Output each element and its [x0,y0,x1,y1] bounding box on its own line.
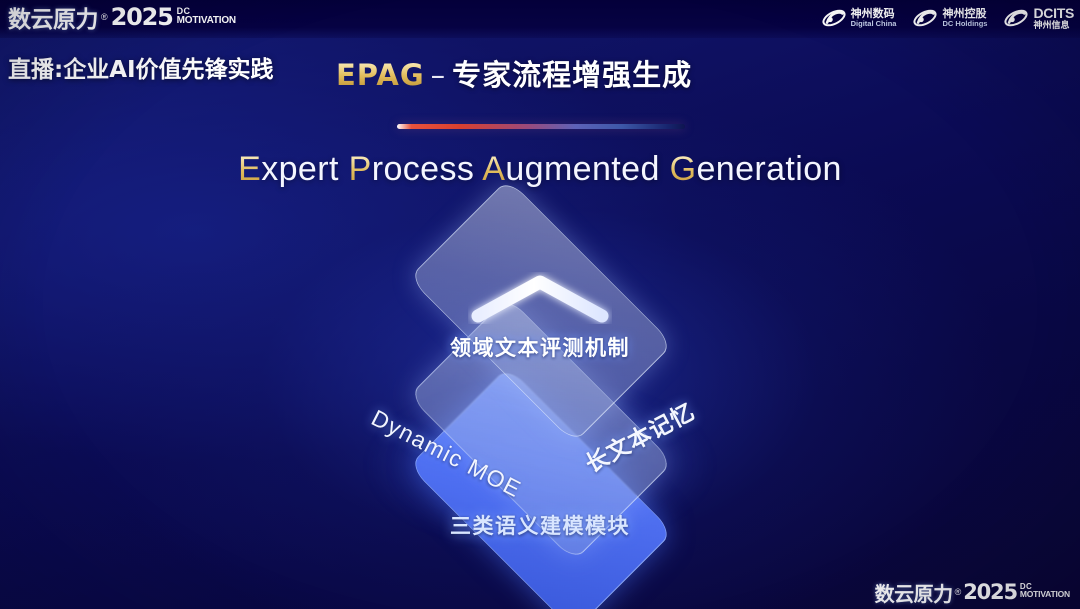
subtitle-word-generation: eneration [696,150,841,188]
swirl-logo-icon [1003,6,1029,30]
partner-logo-dc-holdings: 神州控股 DC Holdings [912,6,987,30]
brand-registered-mark: ® [101,12,108,22]
title-divider [397,124,685,129]
partner-logo-text: 神州控股 DC Holdings [942,9,987,28]
chevron-up-icon [468,272,612,324]
partner-name-en: Digital China [851,20,897,28]
brand-registered-mark: ® [955,587,962,597]
page-title: EPAG–专家流程增强生成 [336,52,692,94]
title-dash: – [425,58,453,92]
live-stream-title: 直播:企业AI价值先锋实践 [8,50,274,84]
brand-dc-motivation: DC MOTIVATION [1020,583,1070,598]
subtitle-word-augmented: ugmented [505,150,669,188]
brand-logo-watermark: 数云原力 ® 2025 DC MOTIVATION [875,579,1070,605]
subtitle-initial-e: E [238,150,261,188]
brand-year: 2025 [963,580,1017,604]
brand-dc-line2: MOTIVATION [1020,591,1070,599]
swirl-logo-icon [912,6,938,30]
partner-logo-group: 神州数码 Digital China 神州控股 DC Holdings [821,2,1074,34]
subtitle-initial-a: A [482,150,505,188]
swirl-logo-icon [821,6,847,30]
partner-logo-text: 神州数码 Digital China [851,9,897,28]
partner-logo-text: DCITS 神州信息 [1033,6,1074,29]
brand-dc-line2: MOTIVATION [177,16,236,25]
brand-logo-top: 数云原力 ® 2025 DC MOTIVATION [8,3,236,31]
partner-name-en: 神州信息 [1033,21,1074,30]
partner-logo-digital-china: 神州数码 Digital China [821,6,897,30]
slide-canvas: 领域文本评测机制 Dynamic MOE 长文本记忆 三类语义建模模块 EPAG… [0,0,1080,609]
subtitle-word-process: rocess [372,150,483,188]
partner-name-cn: DCITS [1033,6,1074,20]
subtitle-word-expert: xpert [261,150,348,188]
brand-year: 2025 [111,3,173,31]
subtitle-initial-p: P [349,150,372,188]
stack-glow [300,350,780,580]
brand-name-cn: 数云原力 [8,0,98,34]
subtitle-initial-g: G [670,150,697,188]
partner-logo-dcits: DCITS 神州信息 [1003,6,1074,30]
page-subtitle: Expert Process Augmented Generation [0,150,1080,189]
partner-name-en: DC Holdings [942,20,987,28]
header-bar: 数云原力 ® 2025 DC MOTIVATION 神州数码 Digital C… [0,0,1080,38]
title-chinese: 专家流程增强生成 [452,58,692,92]
title-acronym: EPAG [336,58,425,92]
brand-name-cn: 数云原力 [875,578,953,607]
brand-dc-motivation: DC MOTIVATION [177,7,236,24]
